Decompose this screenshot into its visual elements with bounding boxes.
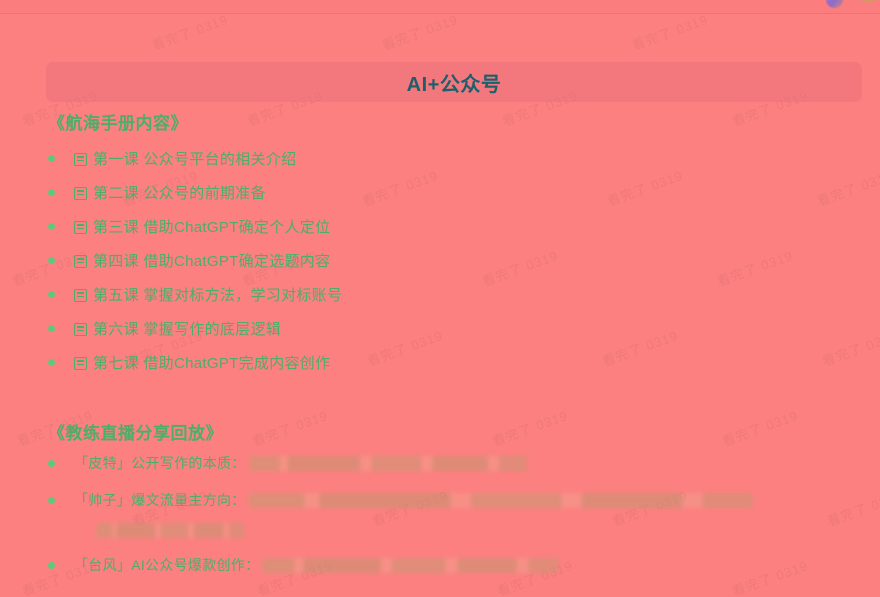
list-item[interactable]: 第二课 公众号的前期准备 [48,175,858,209]
replay-body: 「帅子」爆文流量主方向： [74,488,858,541]
bullet-icon [48,460,55,467]
lesson-label: 第六课 掌握写作的底层逻辑 [93,318,281,339]
lesson-list: 第一课 公众号平台的相关介绍 第二课 公众号的前期准备 第三课 借助ChatGP… [48,141,858,379]
section-heading-manual: 《航海手册内容》 [48,109,188,134]
bullet-icon [48,257,55,264]
list-item[interactable]: 第三课 借助ChatGPT确定个人定位 [48,209,858,243]
document-list-icon [74,153,87,166]
redacted-link[interactable] [249,456,527,471]
list-item[interactable]: 第一课 公众号平台的相关介绍 [48,141,858,175]
replay-list: 「皮特」公开写作的本质： 「帅子」爆文流量主方向： 「台风」AI公众号爆款创作： [48,451,858,590]
lesson-label: 第七课 借助ChatGPT完成内容创作 [93,352,330,373]
lesson-label: 第一课 公众号平台的相关介绍 [93,148,296,169]
section-heading-replay: 《教练直播分享回放》 [48,419,223,444]
redacted-link[interactable] [262,558,558,573]
document-list-icon [74,187,87,200]
corner-mark-icon [862,0,876,2]
document-list-icon [74,323,87,336]
replay-label: 「皮特」公开写作的本质： [74,451,246,476]
lesson-label: 第四课 借助ChatGPT确定选题内容 [93,250,330,271]
bullet-icon [48,155,55,162]
list-item[interactable]: 第六课 掌握写作的底层逻辑 [48,311,858,345]
redacted-link[interactable] [249,493,753,508]
bullet-icon [48,562,55,569]
list-item[interactable]: 「皮特」公开写作的本质： [48,451,858,476]
bullet-icon [48,291,55,298]
list-item[interactable]: 「台风」AI公众号爆款创作： [48,553,858,578]
list-item[interactable]: 第四课 借助ChatGPT确定选题内容 [48,243,858,277]
bullet-icon [48,223,55,230]
bullet-icon [48,325,55,332]
lesson-label: 第二课 公众号的前期准备 [93,182,266,203]
document-list-icon [74,357,87,370]
list-item[interactable]: 第七课 借助ChatGPT完成内容创作 [48,345,858,379]
bullet-icon [48,497,55,504]
lesson-label: 第三课 借助ChatGPT确定个人定位 [93,216,330,237]
user-avatar-icon[interactable] [826,0,843,8]
document-list-icon [74,289,87,302]
replay-label: 「台风」AI公众号爆款创作： [74,553,259,578]
bullet-icon [48,359,55,366]
page-content: AI+公众号 《航海手册内容》 第一课 公众号平台的相关介绍 第二课 公众号的前… [0,14,880,597]
page-title: AI+公众号 [407,68,502,97]
page-title-banner: AI+公众号 [46,62,862,102]
document-list-icon [74,255,87,268]
list-item[interactable]: 第五课 掌握对标方法，学习对标账号 [48,277,858,311]
redacted-link-continued[interactable] [96,523,244,538]
top-bar [0,0,880,14]
replay-body: 「台风」AI公众号爆款创作： [74,553,558,578]
document-list-icon [74,221,87,234]
replay-label: 「帅子」爆文流量主方向： [74,488,246,513]
bullet-icon [48,189,55,196]
list-item[interactable]: 「帅子」爆文流量主方向： [48,488,858,541]
replay-body: 「皮特」公开写作的本质： [74,451,527,476]
redacted-link-wrap [74,519,858,541]
lesson-label: 第五课 掌握对标方法，学习对标账号 [93,284,342,305]
